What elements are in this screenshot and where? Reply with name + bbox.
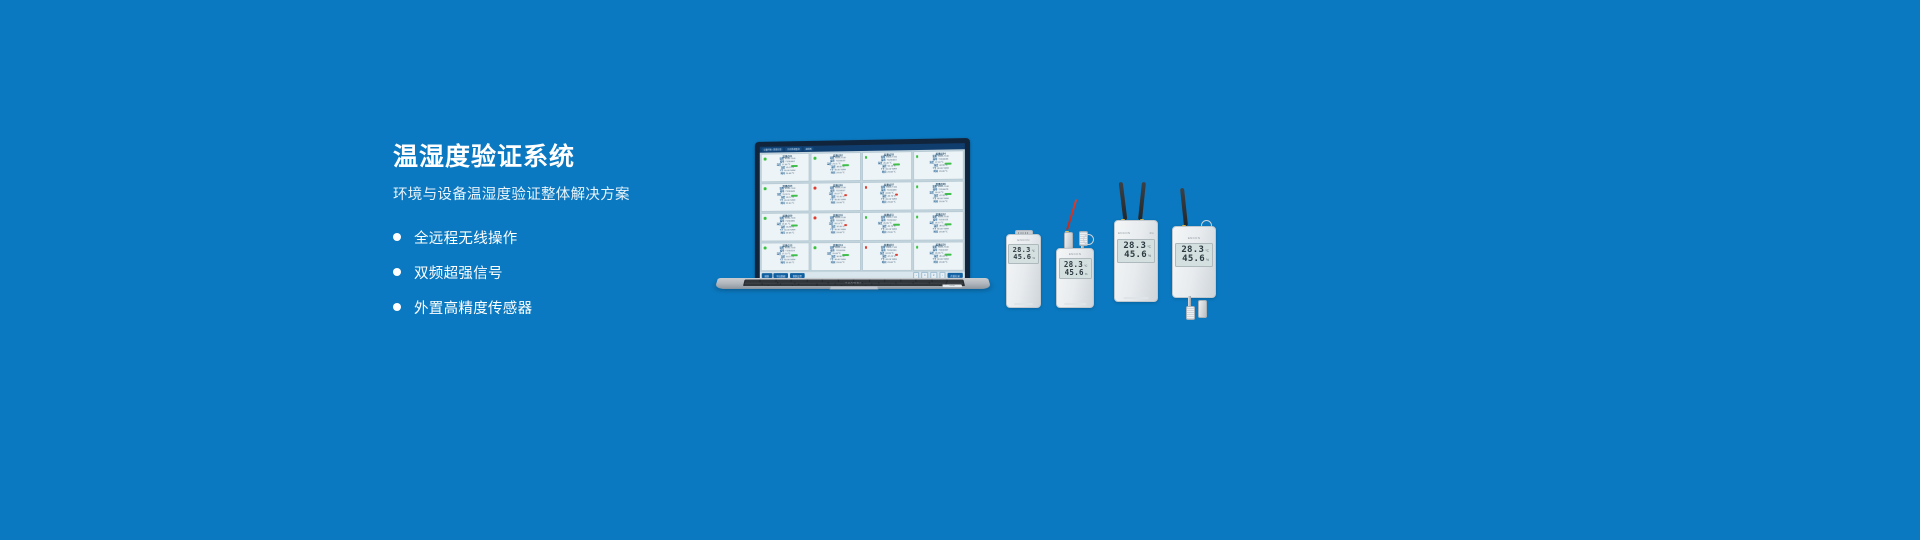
field-value: 23:08 ℃ [786,173,794,176]
monitor-card[interactable]: 监测点07设备RSW-T100编号71200068温度24.80 ℃湿度49.7… [861,181,911,211]
monitor-card[interactable]: 监测点12设备RSW-T100编号71200113温度26.77 ℃湿度48.0… [913,211,964,241]
lcd-humidity-unit: % [1206,259,1209,262]
status-led-icon [764,158,767,161]
field-value: 23:08 ℃ [887,172,896,175]
field-label: 时间 [882,232,886,235]
field-value: 23:08 ℃ [939,232,948,235]
device-lcd-display: 28.3 ℃ 45.6 % [1008,244,1039,264]
device-shell: ENCON 28.3 ℃ 45.6 % [1056,248,1094,308]
antenna-icon [1180,188,1188,226]
lcd-humidity-row: 45.6 % [1013,254,1035,261]
keyboard-key[interactable] [793,285,817,286]
device-logger-antenna-1: ENCON 4G 28.3 ℃ 45.6 % [1112,178,1160,302]
field-label: 时间 [882,172,886,175]
keyboard-key[interactable] [744,285,768,286]
tab-device-list[interactable]: 设备列表 / 数据记录 [762,147,784,152]
monitor-card-body: 监测点06设备RSW-T100编号71200057温度25.07 ℃湿度51.4… [817,184,858,210]
device-logger-probe: ENCON 28.3 ℃ 45.6 % [1052,188,1102,308]
lcd-humidity-unit: % [1085,273,1088,276]
monitor-card-body: 监测点14设备RSW-T100编号71200135温度25.48 ℃湿度50.9… [817,244,858,270]
field-label: 时间 [781,263,785,266]
field-value: 23:08 ℃ [836,233,844,236]
status-led-icon [864,246,867,249]
monitor-card[interactable]: 监测点15设备RSW-T100编号71200146温度24.93 ℃湿度47.2… [861,242,911,271]
field-value: 23:08 ℃ [836,203,844,206]
probe-red-cable [1066,199,1077,230]
timestamp-row: 时间23:00 ℃ [817,172,858,176]
lcd-temperature-unit: ℃ [1032,250,1035,253]
monitor-card-body: 监测点11设备RSW-T100编号71200102温度25.95 ℃湿度45.7… [868,214,910,240]
monitor-card-body: 监测点04设备RSW-T100编号71200035温度27.33 ℃湿度44.9… [920,152,962,179]
monitor-card-body: 监测点12设备RSW-T100编号71200113温度26.77 ℃湿度48.0… [920,213,962,240]
external-sensor-stem [1198,300,1207,318]
monitor-card-body: 监测点13设备RSW-T100编号71200124温度27.10 ℃湿度44.1… [767,244,808,270]
field-label: 时间 [831,203,835,206]
feature-item: 外置高精度传感器 [393,297,723,318]
monitor-card[interactable]: 监测点11设备RSW-T100编号71200102温度25.95 ℃湿度45.7… [861,212,911,241]
timestamp-row: 时间23:08 ℃ [868,172,910,176]
keyboard-key[interactable] [768,285,792,286]
lcd-humidity-row: 45.6 % [1124,251,1151,260]
monitor-card-grid: 监测点01设备RSW-T100编号71200002温度27.08 ℃湿度45.2… [760,149,965,272]
device-logger-small: ENCON 28.3 ℃ 45.6 % [1006,234,1041,308]
field-label: 时间 [831,173,835,176]
field-label: 时间 [831,262,835,265]
monitor-card-body: 监测点05设备RSW-T100编号71200046温度70.30 %湿度46.1… [767,185,808,211]
marketing-copy: 温湿度验证系统 环境与设备温湿度验证整体解决方案 全远程无线操作 双频超强信号 … [393,142,723,332]
field-value: 23:08 ℃ [786,263,794,266]
lcd-humidity-unit: % [1032,257,1035,260]
laptop-lid: 设备列表 / 数据记录 历史数据查询 曲线图 监测点01设备RSW-T100编号… [755,138,970,286]
monitor-card-body: 监测点07设备RSW-T100编号71200068温度24.80 ℃湿度49.7… [868,183,910,210]
device-brand-label: ENCON [1118,231,1130,235]
tab-history[interactable]: 历史数据查询 [785,147,801,152]
field-label: 时间 [781,233,785,236]
status-led-icon [916,155,919,158]
bullet-dot-icon [393,303,401,311]
monitor-card-body: 监测点01设备RSW-T100编号71200002温度27.08 ℃湿度45.2… [767,155,808,181]
monitor-card[interactable]: 监测点08设备RSW-T100编号71200079温度26.02 ℃湿度47.3… [913,181,964,211]
field-value: 23:08 ℃ [887,202,896,205]
monitor-card[interactable]: 监测点04设备RSW-T100编号71200035温度27.33 ℃湿度44.9… [913,150,964,180]
monitor-card-body: 监测点02设备RSW-T100编号71200013温度25.11 ℃湿度48.6… [817,154,858,181]
status-led-icon [814,246,817,249]
monitor-card[interactable]: 监测点06设备RSW-T100编号71200057温度25.07 ℃湿度51.4… [811,182,861,211]
monitor-card[interactable]: 监测点13设备RSW-T100编号71200124温度27.10 ℃湿度44.1… [761,242,810,271]
timestamp-row: 时间23:00 ℃ [767,203,808,206]
tab-chart[interactable]: 曲线图 [804,147,814,152]
device-lcd-display: 28.3 ℃ 45.6 % [1175,243,1213,267]
timestamp-row: 时间23:08 ℃ [868,262,910,265]
feature-list: 全远程无线操作 双频超强信号 外置高精度传感器 [393,227,723,318]
keyboard-key[interactable] [891,285,915,286]
timestamp-row: 时间23:08 ℃ [817,202,858,205]
field-value: 23:08 ℃ [939,262,948,265]
status-led-icon [864,216,867,219]
banner-stage: 温湿度验证系统 环境与设备温湿度验证整体解决方案 全远程无线操作 双频超强信号 … [0,0,1920,540]
lcd-humidity-value: 45.6 [1124,251,1147,260]
device-lcd-display: 28.3 ℃ 45.6 % [1059,258,1092,279]
page-subtitle: 环境与设备温湿度验证整体解决方案 [393,186,723,205]
monitor-card[interactable]: 监测点14设备RSW-T100编号71200135温度25.48 ℃湿度50.9… [811,242,861,271]
timestamp-row: 时间23:08 ℃ [868,202,910,205]
external-sensor-cap [1186,306,1195,320]
status-led-icon [764,217,767,220]
feature-item: 双频超强信号 [393,262,723,283]
field-label: 时间 [781,174,785,177]
device-model-mark: 4G [1149,231,1154,235]
field-label: 时间 [934,171,938,174]
monitor-card-body: 监测点16设备RSW-T100编号71200157温度26.35 ℃湿度46.4… [920,243,962,269]
monitor-card-body: 监测点09设备RSW-T100编号71200080温度25.61 ℃湿度46.8… [767,214,808,240]
laptop-screen: 设备列表 / 数据记录 历史数据查询 曲线图 监测点01设备RSW-T100编号… [760,143,965,279]
feature-label: 全远程无线操作 [414,227,518,248]
monitor-card[interactable]: 监测点01设备RSW-T100编号71200002温度27.08 ℃湿度45.2… [761,153,810,182]
laptop-product-image: 设备列表 / 数据记录 历史数据查询 曲线图 监测点01设备RSW-T100编号… [718,140,988,298]
status-led-icon [916,215,919,218]
timestamp-row: 时间23:08 ℃ [817,232,858,235]
page-title: 温湿度验证系统 [393,142,723,172]
keyboard-key[interactable] [915,285,939,286]
monitor-card-body: 监测点03设备RSW-T100编号71200024温度26.40 ℃湿度50.1… [868,153,910,180]
device-brand-label: ENCON [1017,238,1029,242]
timestamp-row: 时间23:08 ℃ [920,262,962,265]
lcd-temperature-unit: ℃ [1205,250,1209,253]
status-led-icon [764,246,767,249]
feature-label: 双频超强信号 [414,262,503,283]
device-product-group: ENCON 28.3 ℃ 45.6 % [1000,178,1230,308]
hanger-loop-icon [1083,234,1094,245]
timestamp-row: 时间23:00 ℃ [868,232,910,235]
timestamp-row: 时间23:08 ℃ [767,263,808,266]
laptop-base: HUAWEI intel [715,278,992,289]
device-bottom-vent [1014,303,1034,305]
field-value: 23:08 ℃ [786,233,794,236]
device-shell: ENCON 28.3 ℃ 45.6 % [1172,226,1216,298]
timestamp-row: 时间23:00 ℃ [817,262,858,265]
timestamp-row: 时间23:08 ℃ [920,171,962,175]
device-brand-label: ENCON [1069,252,1081,256]
laptop-sticker: intel [942,284,962,287]
antenna-left-icon [1119,182,1128,220]
feature-item: 全远程无线操作 [393,227,723,248]
laptop-brand-label: HUAWEI [845,282,861,284]
field-value: 23:00 ℃ [836,262,844,265]
monitor-card-body: 监测点15设备RSW-T100编号71200146温度24.93 ℃湿度47.2… [868,244,910,270]
monitor-card[interactable]: 监测点09设备RSW-T100编号71200080温度25.61 ℃湿度46.8… [761,212,810,241]
status-led-icon [916,185,919,188]
device-lcd-display: 28.3 ℃ 45.6 % [1117,239,1155,263]
lcd-humidity-unit: % [1148,255,1151,258]
lcd-humidity-value: 45.6 [1013,254,1031,261]
timestamp-row: 时间23:08 ℃ [920,232,962,235]
antenna-right-icon [1138,182,1146,220]
feature-label: 外置高精度传感器 [414,297,532,318]
monitor-card[interactable]: 监测点02设备RSW-T100编号71200013温度25.11 ℃湿度48.6… [811,152,861,182]
lcd-humidity-value: 45.6 [1065,269,1084,277]
device-shell: ENCON 28.3 ℃ 45.6 % [1006,234,1041,308]
status-led-icon [916,246,919,249]
lcd-humidity-value: 45.6 [1182,255,1205,264]
lcd-temperature-unit: ℃ [1147,246,1151,249]
status-led-icon [864,156,867,159]
monitor-card-body: 监测点08设备RSW-T100编号71200079温度26.02 ℃湿度47.3… [920,183,962,210]
field-value: 23:00 ℃ [887,232,896,235]
status-led-icon [764,187,767,190]
timestamp-row: 时间23:00 ℃ [920,201,962,204]
field-value: 23:08 ℃ [939,171,948,174]
monitor-card[interactable]: 监测点16设备RSW-T100编号71200157温度26.35 ℃湿度46.4… [913,241,964,270]
timestamp-row: 时间23:08 ℃ [767,233,808,236]
bullet-dot-icon [393,233,401,241]
device-brand-label: ENCON [1188,236,1200,240]
device-bottom-vent [1064,303,1086,305]
monitor-card[interactable]: 监测点05设备RSW-T100编号71200046温度70.30 %湿度46.1… [761,183,810,212]
lcd-humidity-row: 45.6 % [1065,269,1088,277]
field-label: 时间 [781,203,785,206]
field-label: 时间 [934,232,938,235]
field-value: 23:08 ℃ [887,262,896,265]
lcd-humidity-row: 45.6 % [1182,255,1209,264]
field-label: 时间 [934,202,938,205]
laptop-trackpad[interactable] [829,286,878,289]
status-led-icon [864,186,867,189]
field-label: 时间 [882,262,886,265]
device-shell: ENCON 4G 28.3 ℃ 45.6 % [1114,220,1158,302]
status-led-icon [814,157,817,160]
status-led-icon [814,187,817,190]
device-logger-antenna-2: ENCON 28.3 ℃ 45.6 % [1168,178,1224,320]
device-bottom-vent [1123,297,1148,299]
status-led-icon [814,216,817,219]
monitor-card-body: 监测点10设备RSW-T100编号71200091温度28.14 ℃湿度52.0… [817,214,858,240]
bullet-dot-icon [393,268,401,276]
field-value: 23:00 ℃ [786,203,794,206]
field-label: 时间 [831,233,835,236]
field-label: 时间 [882,202,886,205]
monitor-card[interactable]: 监测点03设备RSW-T100编号71200024温度26.40 ℃湿度50.1… [861,151,911,181]
timestamp-row: 时间23:08 ℃ [767,173,808,177]
field-value: 23:00 ℃ [939,201,948,204]
field-value: 23:00 ℃ [836,173,844,176]
field-label: 时间 [934,262,938,265]
monitor-card[interactable]: 监测点10设备RSW-T100编号71200091温度28.14 ℃湿度52.0… [811,212,861,241]
